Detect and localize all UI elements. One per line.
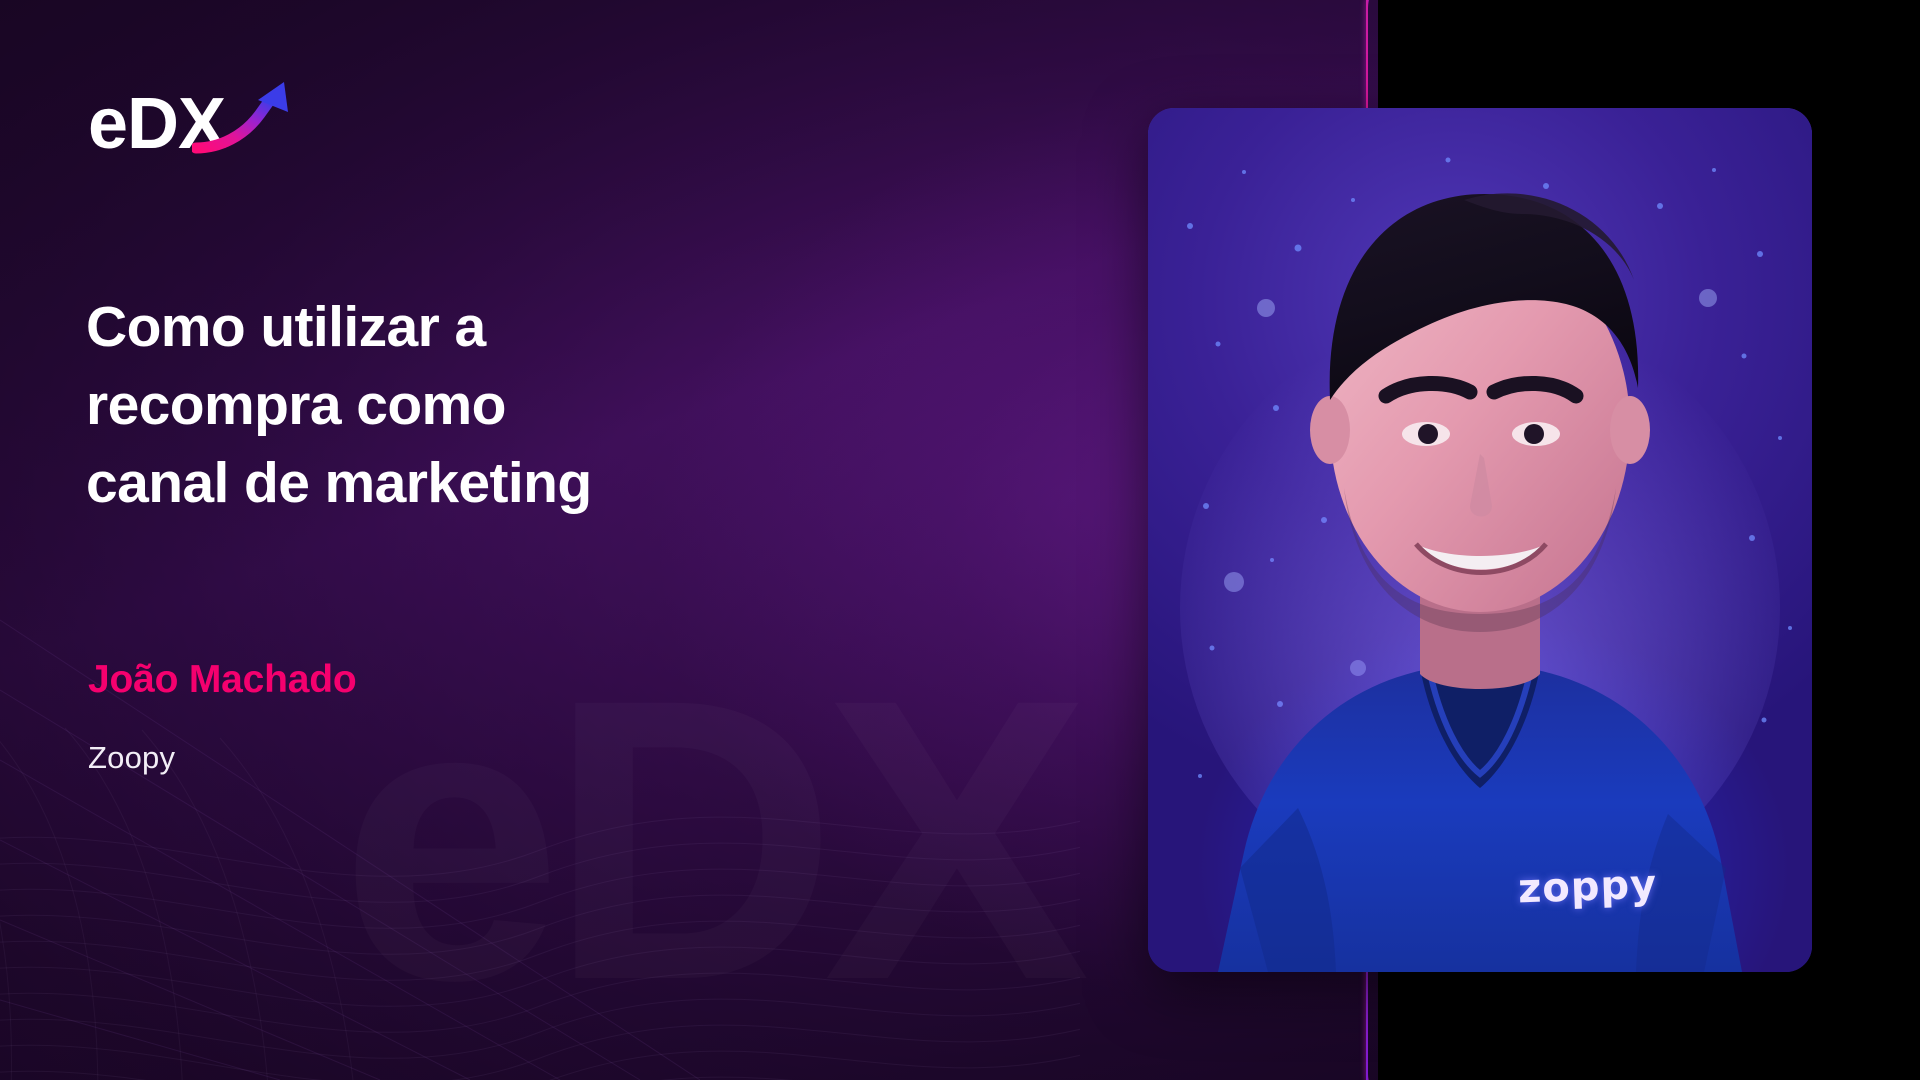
speaker-company: Zoopy xyxy=(88,740,175,776)
title-line-3: canal de marketing xyxy=(86,444,826,522)
watermark-edx: eDX xyxy=(340,640,1076,1040)
webinar-slide: eDX xyxy=(0,0,1920,1080)
growth-arrow-icon xyxy=(192,78,296,158)
shirt-brand-logo: zoppy xyxy=(1517,862,1658,913)
title-line-2: recompra como xyxy=(86,366,826,444)
title-line-1: Como utilizar a xyxy=(86,288,826,366)
speaker-photo-card: zoppy xyxy=(1148,108,1812,972)
edx-logo[interactable]: eDX xyxy=(88,84,288,164)
page-title: Como utilizar a recompra como canal de m… xyxy=(86,288,826,522)
speaker-portrait xyxy=(1148,108,1812,972)
speaker-name: João Machado xyxy=(88,658,357,702)
